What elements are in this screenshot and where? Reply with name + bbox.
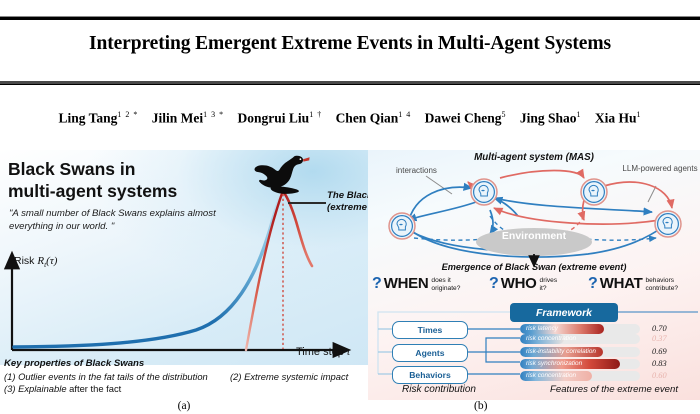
author-affiliation-marks: 1 <box>577 110 582 119</box>
author-entry: Dawei Cheng5 <box>425 110 507 127</box>
question-when: ? WHEN does it originate? <box>372 276 460 293</box>
question-word: WHAT <box>600 276 643 291</box>
feature-bar[interactable]: risk concentration <box>520 371 640 381</box>
author-entry: Dongrui Liu1 † <box>238 110 323 127</box>
feature-bar[interactable]: risk synchronization <box>520 359 640 369</box>
question-mark-icon: ? <box>372 276 382 292</box>
annotation-leader-line <box>288 202 326 204</box>
author-name: Ling Tang <box>58 111 117 126</box>
feature-bar-label: risk-instability correlation <box>526 347 596 357</box>
panel-a-caption: (a) <box>0 400 368 412</box>
risk-curve-red-left <box>246 191 283 350</box>
author-name: Xia Hu <box>595 111 637 126</box>
feature-bar[interactable]: risk-instability correlation <box>520 347 640 357</box>
key-property-2: (2) Extreme systemic impact <box>230 371 348 382</box>
key-property-3-emphasis: (3) Explainable <box>4 383 67 394</box>
top-rule <box>0 16 700 20</box>
figure-panel-a: Black Swans in multi-agent systems "A sm… <box>0 150 368 414</box>
key-property-3-rest: after the fact <box>67 383 122 394</box>
question-mark-icon: ? <box>489 276 499 292</box>
tree-node-times[interactable]: Times <box>392 321 468 339</box>
feature-value: 0.69 <box>652 347 667 356</box>
key-property-1: (1) Outlier events in the fat tails of t… <box>4 371 208 382</box>
author-entry: Ling Tang1 2 * <box>58 110 138 127</box>
agent-node <box>581 179 607 205</box>
author-affiliation-marks: 1 <box>637 110 642 119</box>
features-caption: Features of the extreme event <box>528 384 700 395</box>
page-title: Interpreting Emergent Extreme Events in … <box>0 33 700 55</box>
environment-label: Environment <box>478 230 590 242</box>
feature-bar-label: risk concentration <box>526 334 576 344</box>
key-properties-row: (1) Outlier events in the fat tails of t… <box>4 371 364 384</box>
author-name: Chen Qian <box>336 111 399 126</box>
author-name: Jilin Mei <box>152 111 203 126</box>
feature-value: 0.60 <box>652 371 667 380</box>
figure-panel-b: Multi-agent system (MAS) interactions LL… <box>368 150 700 414</box>
paper-page: Interpreting Emergent Extreme Events in … <box>0 0 700 414</box>
emergence-title: Emergence of Black Swan (extreme event) <box>368 262 700 272</box>
question-mark-icon: ? <box>588 276 598 292</box>
question-row: ? WHEN does it originate? ? WHO drives i… <box>372 276 700 300</box>
key-properties-heading: Key properties of Black Swans <box>4 358 364 371</box>
black-swan-annotation: The Black Swan (extreme event) <box>327 190 368 214</box>
risk-curve-rising <box>14 190 283 347</box>
teaser-figure: Black Swans in multi-agent systems "A sm… <box>0 150 700 414</box>
author-affiliation-marks: 1 2 * <box>117 110 138 119</box>
question-word: WHEN <box>384 276 429 291</box>
agent-node <box>471 179 497 205</box>
author-entry: Xia Hu1 <box>595 110 642 127</box>
annotation-line-1: The Black Swan <box>327 190 368 201</box>
framework-block: Framework Times Agents Behaviors risk la… <box>368 302 700 400</box>
tree-node-agents[interactable]: Agents <box>392 344 468 362</box>
question-who: ? WHO drives it? <box>489 276 557 293</box>
panel-b-caption: (b) <box>474 400 487 412</box>
author-name: Jing Shao <box>520 111 577 126</box>
author-entry: Chen Qian1 4 <box>336 110 412 127</box>
risk-contribution-caption: Risk contribution <box>374 384 504 395</box>
author-name: Dawei Cheng <box>425 111 502 126</box>
feature-value: 0.70 <box>652 324 667 333</box>
x-axis-label: Time step t <box>296 346 350 358</box>
question-word: WHO <box>501 276 537 291</box>
author-affiliation-marks: 1 4 <box>398 110 411 119</box>
author-affiliation-marks: 1 † <box>309 110 322 119</box>
author-entry: Jilin Mei1 3 * <box>152 110 224 127</box>
feature-value: 0.83 <box>652 359 667 368</box>
feature-value: 0.37 <box>652 334 667 343</box>
tree-node-behaviors[interactable]: Behaviors <box>392 366 468 384</box>
key-properties-block: Key properties of Black Swans (1) Outlie… <box>4 358 364 394</box>
agent-node <box>389 213 415 239</box>
interactions-leader <box>426 176 452 194</box>
agent-node <box>655 211 681 237</box>
author-entry: Jing Shao1 <box>520 110 582 127</box>
question-detail: drives it? <box>540 277 558 293</box>
feature-bar-label: risk synchronization <box>526 359 582 369</box>
author-affiliation-marks: 5 <box>501 110 506 119</box>
author-name: Dongrui Liu <box>238 111 310 126</box>
title-divider-rule <box>0 81 700 85</box>
key-property-3: (3) Explainable after the fact <box>4 383 364 394</box>
llm-leader <box>648 186 656 202</box>
question-detail: does it originate? <box>431 277 460 293</box>
feature-bar-label: risk latency <box>526 324 558 334</box>
feature-bar-label: risk concentration <box>526 371 576 381</box>
feature-bar[interactable]: risk concentration <box>520 334 640 344</box>
framework-box: Framework <box>510 303 618 322</box>
author-list: Ling Tang1 2 * Jilin Mei1 3 * Dongrui Li… <box>0 110 700 127</box>
mas-diagram <box>368 150 700 270</box>
feature-bar[interactable]: risk latency <box>520 324 640 334</box>
black-swan-icon <box>251 153 313 201</box>
author-affiliation-marks: 1 3 * <box>203 110 224 119</box>
annotation-line-2: (extreme event) <box>327 202 368 213</box>
question-what: ? WHAT behaviors contribute? <box>588 276 678 293</box>
question-detail: behaviors contribute? <box>645 277 678 293</box>
